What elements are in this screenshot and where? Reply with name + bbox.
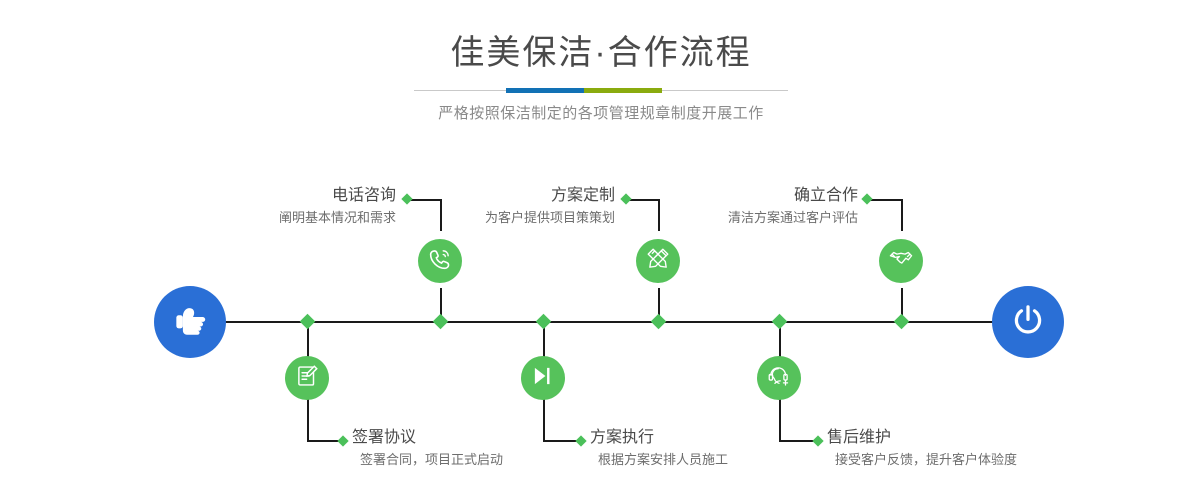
step-node-6[interactable] bbox=[757, 356, 801, 400]
document-edit-icon bbox=[294, 363, 320, 394]
step-node-2[interactable] bbox=[285, 356, 329, 400]
play-forward-icon bbox=[530, 363, 556, 394]
connector-riser-step-3 bbox=[658, 199, 660, 231]
headset-support-icon bbox=[766, 363, 792, 394]
label-marker-step-2 bbox=[337, 435, 348, 446]
timeline-end-node[interactable] bbox=[992, 286, 1064, 358]
step-node-1[interactable] bbox=[418, 239, 462, 283]
handshake-icon bbox=[888, 246, 914, 277]
step-title-3: 方案定制 bbox=[460, 186, 615, 206]
step-desc-2: 签署合同，项目正式启动 bbox=[352, 450, 503, 470]
axis-marker-step-6 bbox=[772, 314, 788, 330]
step-node-4[interactable] bbox=[521, 356, 565, 400]
label-marker-step-1 bbox=[401, 193, 412, 204]
connector-riser-step-2 bbox=[307, 399, 309, 441]
connector-riser-step-4 bbox=[543, 399, 545, 441]
step-label-5: 确立合作 清洁方案通过客户评估 bbox=[700, 186, 858, 228]
connector-horizontal-step-1 bbox=[409, 199, 442, 201]
axis-marker-step-4 bbox=[536, 314, 552, 330]
step-desc-1: 阐明基本情况和需求 bbox=[250, 208, 396, 228]
step-desc-6: 接受客户反馈，提升客户体验度 bbox=[827, 450, 1017, 470]
pointing-hand-icon bbox=[171, 301, 209, 344]
label-marker-step-4 bbox=[575, 435, 586, 446]
connector-horizontal-step-5 bbox=[869, 199, 903, 201]
step-label-2: 签署协议 签署合同，项目正式启动 bbox=[352, 428, 503, 470]
timeline-start-node[interactable] bbox=[154, 286, 226, 358]
step-desc-4: 根据方案安排人员施工 bbox=[590, 450, 728, 470]
connector-riser-step-5 bbox=[901, 199, 903, 231]
label-marker-step-3 bbox=[620, 193, 631, 204]
step-title-1: 电话咨询 bbox=[250, 186, 396, 206]
process-timeline: 电话咨询 阐明基本情况和需求 签署协议 签署合同，项目正式启动 bbox=[0, 0, 1202, 502]
step-title-2: 签署协议 bbox=[352, 428, 503, 448]
step-title-4: 方案执行 bbox=[590, 428, 728, 448]
pencil-ruler-icon bbox=[645, 246, 671, 277]
step-desc-5: 清洁方案通过客户评估 bbox=[700, 208, 858, 228]
step-label-4: 方案执行 根据方案安排人员施工 bbox=[590, 428, 728, 470]
phone-call-icon bbox=[427, 246, 453, 277]
label-marker-step-5 bbox=[861, 193, 872, 204]
axis-marker-step-5 bbox=[894, 314, 910, 330]
flowchart-page: 佳美保洁·合作流程 严格按照保洁制定的各项管理规章制度开展工作 bbox=[0, 0, 1202, 502]
step-label-6: 售后维护 接受客户反馈，提升客户体验度 bbox=[827, 428, 1017, 470]
step-label-3: 方案定制 为客户提供项目策策划 bbox=[460, 186, 615, 228]
connector-riser-step-6 bbox=[779, 399, 781, 441]
step-node-5[interactable] bbox=[879, 239, 923, 283]
axis-marker-step-1 bbox=[433, 314, 449, 330]
label-marker-step-6 bbox=[812, 435, 823, 446]
step-title-5: 确立合作 bbox=[700, 186, 858, 206]
step-node-3[interactable] bbox=[636, 239, 680, 283]
step-label-1: 电话咨询 阐明基本情况和需求 bbox=[250, 186, 396, 228]
power-icon bbox=[1009, 301, 1047, 344]
connector-riser-step-1 bbox=[440, 199, 442, 231]
connector-horizontal-step-3 bbox=[628, 199, 660, 201]
step-title-6: 售后维护 bbox=[827, 428, 1017, 448]
axis-marker-step-3 bbox=[651, 314, 667, 330]
axis-marker-step-2 bbox=[300, 314, 316, 330]
step-desc-3: 为客户提供项目策策划 bbox=[460, 208, 615, 228]
